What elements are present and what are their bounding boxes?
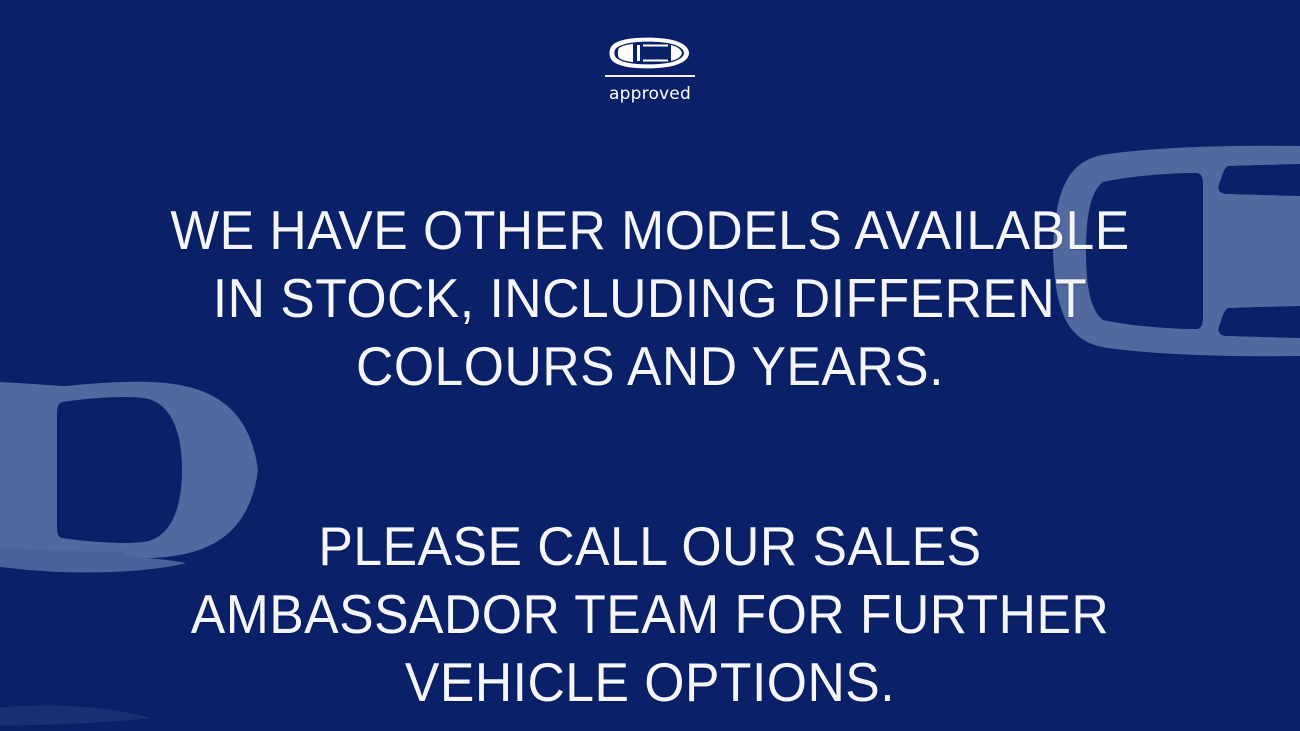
promo-slide: approved WE HAVE OTHER MODELS AVAILABLE …: [0, 0, 1300, 731]
brand-wordmark: approved: [609, 86, 691, 103]
headline-primary: WE HAVE OTHER MODELS AVAILABLE IN STOCK,…: [138, 196, 1163, 400]
brand-logo: approved: [0, 36, 1300, 103]
brand-divider: [605, 75, 695, 77]
car-top-view-icon: [608, 36, 692, 70]
message-block: WE HAVE OTHER MODELS AVAILABLE IN STOCK,…: [0, 196, 1300, 731]
headline-secondary: PLEASE CALL OUR SALES AMBASSADOR TEAM FO…: [138, 512, 1163, 716]
